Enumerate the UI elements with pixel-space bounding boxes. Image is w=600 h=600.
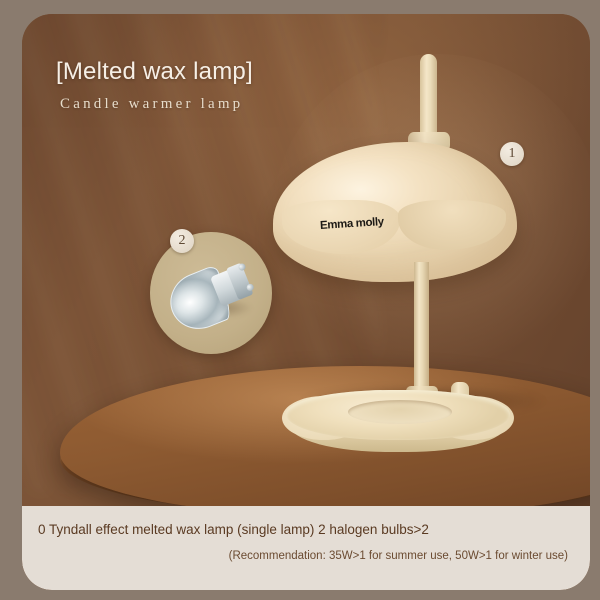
halogen-bulb-icon (157, 243, 264, 344)
candle-warmer-lamp: Emma molly (268, 50, 518, 470)
page-title: [Melted wax lamp] (56, 58, 253, 86)
callout-badge-2: 2 (170, 229, 194, 253)
caption-primary-text: 0 Tyndall effect melted wax lamp (single… (38, 522, 429, 537)
callout-badge-1: 1 (500, 142, 524, 166)
lamp-base-well (348, 400, 452, 424)
halogen-bulb-inset (150, 232, 272, 354)
lamp-finial-rod (420, 54, 437, 140)
product-card: Emma molly (22, 14, 590, 590)
product-image-frame: Emma molly (0, 0, 600, 600)
lamp-base (286, 390, 510, 458)
caption-panel: 0 Tyndall effect melted wax lamp (single… (22, 506, 590, 590)
lamp-stem (414, 262, 429, 404)
page-subtitle: Candle warmer lamp (60, 96, 243, 113)
caption-recommendation-text: (Recommendation: 35W˃1 for summer use, 5… (229, 550, 568, 562)
product-scene: Emma molly (22, 14, 590, 506)
